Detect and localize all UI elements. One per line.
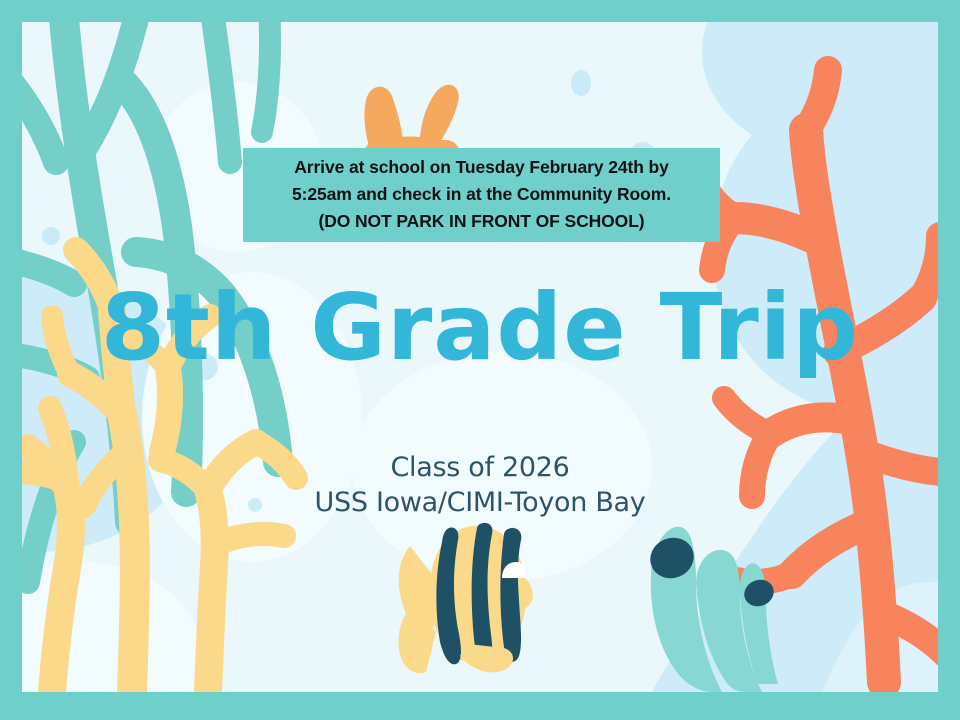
background-blob-pale-bottomleft <box>22 562 202 692</box>
tube-opening-icon <box>644 531 700 585</box>
notice-line-arrival: Arrive at school on Tuesday February 24t… <box>294 154 669 181</box>
subtitle-line-class: Class of 2026 <box>22 450 938 485</box>
notice-line-parking: (DO NOT PARK IN FRONT OF SCHOOL) <box>318 208 644 235</box>
poster-frame: 8th Grade Trip Class of 2026 USS Iowa/CI… <box>0 0 960 720</box>
notice-line-checkin: 5:25am and check in at the Community Roo… <box>292 181 671 208</box>
bubble-icon <box>571 70 591 96</box>
background-blob-top-right <box>702 22 938 162</box>
tube-opening-icon <box>740 575 778 610</box>
page-title: 8th Grade Trip <box>22 280 938 376</box>
bubble-icon <box>42 227 60 245</box>
poster-canvas: 8th Grade Trip Class of 2026 USS Iowa/CI… <box>22 22 938 692</box>
subtitle-line-destination: USS Iowa/CIMI-Toyon Bay <box>22 485 938 520</box>
subtitle-block: Class of 2026 USS Iowa/CIMI-Toyon Bay <box>22 450 938 520</box>
notice-box: Arrive at school on Tuesday February 24t… <box>243 148 720 242</box>
